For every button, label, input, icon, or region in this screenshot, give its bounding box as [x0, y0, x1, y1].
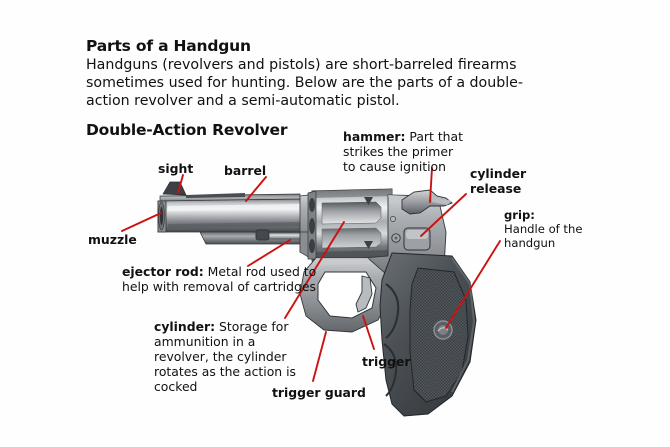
label-trigger-term: trigger — [362, 354, 411, 369]
label-trigger-guard: trigger guard — [272, 386, 366, 401]
label-cylinder-term: cylinder: — [154, 319, 215, 334]
label-ejector-rod-term: ejector rod: — [122, 264, 204, 279]
label-hammer-term: hammer: — [343, 129, 405, 144]
label-trigger: trigger — [362, 355, 411, 370]
label-trigger-guard-term: trigger guard — [272, 385, 366, 400]
grip-group — [380, 253, 476, 416]
label-muzzle-term: muzzle — [88, 232, 137, 247]
cylinder — [312, 189, 392, 261]
intro-paragraph: Handguns (revolvers and pistols) are sho… — [86, 56, 556, 110]
label-ejector-rod: ejector rod: Metal rod used to help with… — [122, 265, 322, 295]
label-barrel-term: barrel — [224, 163, 266, 178]
section-title: Double-Action Revolver — [86, 121, 287, 139]
label-grip: grip: Handle of the handgun — [504, 209, 596, 251]
page-title: Parts of a Handgun — [86, 37, 251, 55]
label-grip-term: grip: — [504, 208, 535, 222]
label-cylinder: cylinder: Storage for ammunition in a re… — [154, 320, 310, 394]
label-hammer: hammer: Part that strikes the primer to … — [343, 130, 467, 175]
label-grip-desc: Handle of the handgun — [504, 222, 582, 250]
label-sight: sight — [158, 162, 193, 177]
label-barrel: barrel — [224, 164, 266, 179]
cylinder-group — [308, 189, 392, 261]
leader-muzzle — [122, 213, 161, 231]
barrel-group — [158, 182, 304, 244]
label-muzzle: muzzle — [88, 233, 137, 248]
label-cylinder-release-term: cylinder release — [470, 166, 526, 196]
handgun-parts-diagram: Parts of a Handgun Handguns (revolvers a… — [0, 0, 670, 447]
label-cylinder-release: cylinder release — [470, 167, 550, 197]
label-sight-term: sight — [158, 161, 193, 176]
leader-trigger-guard — [313, 332, 326, 381]
front-sight — [163, 182, 186, 195]
